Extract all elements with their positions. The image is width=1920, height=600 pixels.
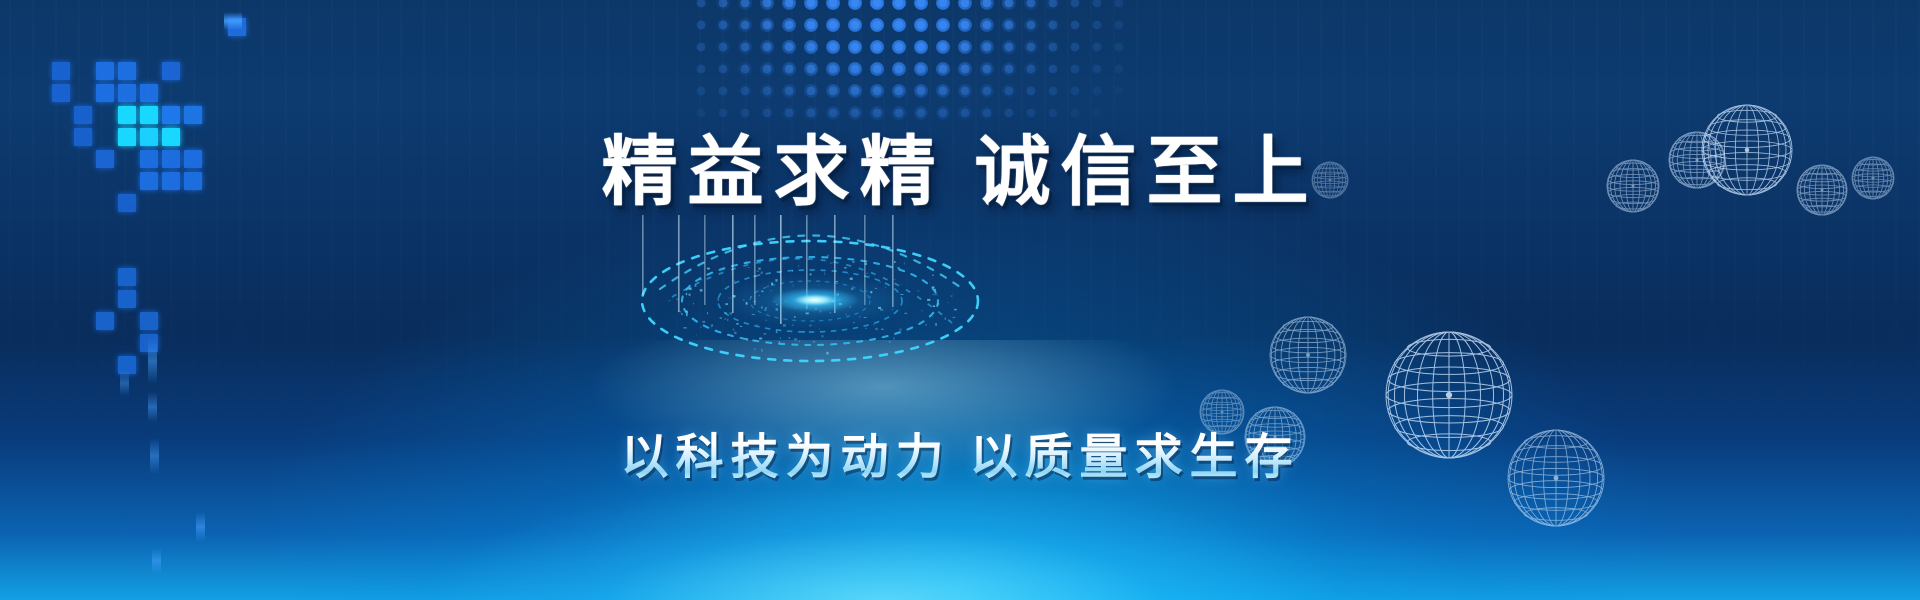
hud-particle <box>686 311 688 313</box>
hud-particle <box>803 331 805 332</box>
hud-particle <box>932 286 935 288</box>
hud-particle <box>867 273 868 274</box>
hud-particle <box>757 271 759 272</box>
mosaic-cell <box>96 62 114 80</box>
hud-particle <box>875 328 877 330</box>
hud-particle <box>688 294 690 296</box>
hud-particle <box>894 261 895 263</box>
hud-particle <box>776 331 777 333</box>
hud-particle <box>935 295 938 296</box>
hud-particle <box>830 263 833 264</box>
mosaic-cell <box>52 62 70 80</box>
hud-particle <box>683 327 686 329</box>
mosaic-cell <box>118 84 136 102</box>
hud-particle <box>792 270 793 272</box>
hud-particle <box>745 261 746 264</box>
hud-particle <box>852 261 855 262</box>
hud-particle <box>897 332 898 333</box>
hud-particle <box>758 268 760 270</box>
hud-particle <box>734 332 736 334</box>
hud-particle <box>759 338 762 340</box>
mosaic-cell <box>52 84 70 102</box>
hud-particle <box>748 267 750 268</box>
halftone-dot-field-outer-icon <box>690 0 1130 120</box>
hud-particle <box>711 324 712 326</box>
hud-particle <box>922 310 923 311</box>
hud-particle <box>933 305 935 307</box>
hud-particle <box>779 272 780 273</box>
hud-particle <box>689 287 692 289</box>
hud-light-ray <box>704 215 706 305</box>
banner-headline: 精益求精 诚信至上 <box>0 110 1920 220</box>
hud-particle <box>932 275 934 276</box>
hud-particle <box>826 352 828 355</box>
hud-particle <box>819 328 820 329</box>
hud-particle <box>926 324 927 326</box>
hud-particle <box>699 279 702 280</box>
hud-particle <box>889 341 891 342</box>
hud-particle <box>680 311 681 312</box>
hud-light-ray <box>678 215 680 312</box>
technology-banner: 精益求精 诚信至上 以科技为动力 以质量求生存 <box>0 0 1920 600</box>
hud-particle <box>950 295 952 297</box>
hud-particle <box>799 340 800 342</box>
hud-particle <box>932 294 935 295</box>
hud-particle <box>953 317 956 318</box>
hud-particle <box>789 337 790 338</box>
hud-particle <box>821 335 823 337</box>
hud-particle <box>693 303 694 304</box>
hud-particle <box>881 329 883 330</box>
hud-ring-graphic <box>620 215 1000 395</box>
hud-particle <box>702 321 705 323</box>
hud-particle <box>761 271 762 273</box>
mosaic-cell <box>118 290 136 308</box>
hud-particle <box>761 349 762 352</box>
hud-particle <box>932 316 933 317</box>
mosaic-cell <box>118 268 136 286</box>
hud-particle <box>899 328 902 330</box>
mosaic-cell <box>96 84 114 102</box>
hud-particle <box>711 327 712 329</box>
hud-particle <box>746 338 748 341</box>
hud-particle <box>764 333 767 334</box>
hud-particle <box>707 268 710 270</box>
hud-particle <box>681 313 682 315</box>
hud-particle <box>947 302 949 303</box>
hud-particle <box>694 285 696 287</box>
mosaic-cell <box>228 18 246 36</box>
hud-particle <box>707 312 708 314</box>
hud-particle <box>945 318 946 320</box>
hud-particle <box>904 262 905 264</box>
mosaic-cell <box>140 84 158 102</box>
hud-particle <box>669 300 671 301</box>
hud-particle <box>897 267 900 268</box>
hud-particle <box>798 265 799 267</box>
hud-particle <box>733 329 734 331</box>
hud-particle <box>794 338 797 340</box>
hud-particle <box>866 328 867 329</box>
hud-particle <box>844 267 847 268</box>
hud-particle <box>954 309 957 311</box>
hud-particle <box>894 338 895 340</box>
hud-particle <box>700 327 702 328</box>
mosaic-cell <box>140 312 158 330</box>
hud-particle <box>937 304 938 306</box>
hud-particle <box>918 291 920 292</box>
hud-particle <box>696 334 697 336</box>
hud-particle <box>780 338 781 339</box>
hud-particle <box>813 341 815 342</box>
hud-light-ray <box>642 215 644 295</box>
hud-particle <box>935 289 936 291</box>
mosaic-cell <box>118 62 136 80</box>
banner-subheadline: 以科技为动力 以质量求生存 <box>0 417 1920 487</box>
hud-particle <box>677 298 678 300</box>
hud-particle <box>686 314 688 316</box>
hud-particle <box>776 332 777 333</box>
hud-particle <box>686 293 687 295</box>
hud-particle <box>827 255 829 257</box>
mosaic-cell <box>96 312 114 330</box>
hud-particle <box>927 299 930 301</box>
hud-particle <box>779 342 780 343</box>
mosaic-cell <box>162 62 180 80</box>
hud-particle <box>935 323 936 326</box>
hud-core-flare <box>770 287 860 313</box>
hud-particle <box>754 348 756 350</box>
hud-particle <box>700 289 703 291</box>
